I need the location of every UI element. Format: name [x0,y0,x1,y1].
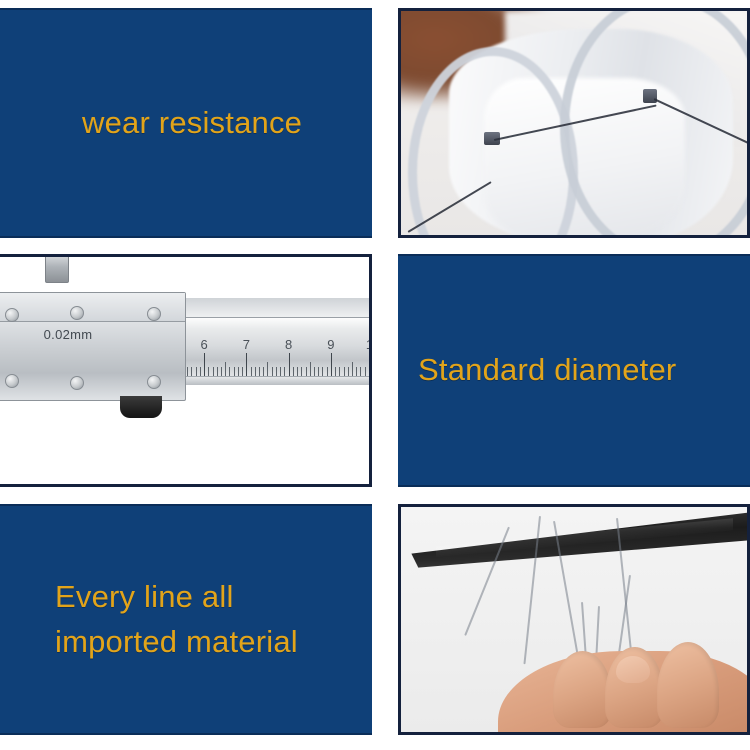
caliper-scale-number: 7 [243,337,250,352]
caliper-tick-minor [352,362,353,377]
product-feature-grid: wear resistance Transparent fishing line… [0,0,750,750]
caliper-tick-major [246,353,247,377]
caliper-tick-minor [234,367,235,377]
caliper-tick-minor [348,367,349,377]
caliper-screw-4 [5,374,19,388]
caliper-tick-minor [242,367,243,377]
caliper-tick-minor [187,367,188,377]
caliper-tick-minor [191,367,192,377]
caliper-tick-minor [208,367,209,377]
caliper-scale-number: 8 [285,337,292,352]
feature-imported-material: Every line all imported material [0,504,372,735]
caliper-thumb-roller [120,396,162,418]
caliper-precision-label: 0.02mm [44,327,93,342]
photo-hand-canvas: Hand holding clear fishing lines beneath… [401,507,747,732]
caliper-tick-minor [213,367,214,377]
caliper-tick-minor [301,367,302,377]
caliper-tick-minor [335,367,336,377]
caliper-tick-minor [259,367,260,377]
caliper-tick-minor [225,362,226,377]
caliper-tick-minor [310,362,311,377]
caliper-tick-major [289,353,290,377]
caliper-screw-6 [147,375,161,389]
finger-ring [657,642,719,728]
caliper-tick-minor [314,367,315,377]
caliper-scale-number: 10 [366,337,369,352]
caliper-tick-minor [251,367,252,377]
caliper-tick-minor [263,367,264,377]
caliper-tick-minor [238,367,239,377]
caliper-depth-rod [184,376,369,384]
feature-wear-resistance-text: wear resistance [82,101,302,145]
photo-vernier-caliper: 12345678910 0.02mm Stai [0,254,372,487]
photo-vernier-caliper-canvas: 12345678910 0.02mm Stai [0,257,369,484]
caliper-slider-block: 0.02mm [0,292,186,401]
caliper-tick-minor [280,367,281,377]
caliper-tick-minor [200,367,201,377]
photo-hand-holding-line: Hand holding clear fishing lines beneath… [398,504,750,735]
caliper-tick-major [331,353,332,377]
caliper-tick-minor [196,367,197,377]
caliper-tick-minor [322,367,323,377]
caliper-tick-minor [344,367,345,377]
caliper-screw-5 [70,376,84,390]
caliper-tick-minor [217,367,218,377]
caliper-scale-number: 6 [201,337,208,352]
spool-line-clip-right [643,89,657,103]
caliper-tick-minor [360,367,361,377]
feature-standard-diameter-text: Standard diameter [418,348,676,392]
caliper-tick-minor [267,362,268,377]
caliper-tick-minor [339,367,340,377]
caliper-tick-minor [297,367,298,377]
caliper-assembly: 12345678910 0.02mm [0,275,369,416]
photo-line-spool: Transparent fishing line spool with mono… [398,8,750,238]
caliper-tick-major [204,353,205,377]
caliper-scale-number: 9 [327,337,334,352]
caliper-tick-minor [306,367,307,377]
photo-line-spool-canvas: Transparent fishing line spool with mono… [401,11,747,235]
feature-wear-resistance: wear resistance [0,8,372,238]
caliper-tick-minor [318,367,319,377]
caliper-tick-minor [272,367,273,377]
caliper-tick-minor [356,367,357,377]
caliper-tick-minor [284,367,285,377]
caliper-tick-minor [365,367,366,377]
caliper-thumb-screw [45,257,69,283]
caliper-tick-minor [293,367,294,377]
caliper-screw-3 [147,307,161,321]
caliper-tick-minor [255,367,256,377]
caliper-tick-minor [327,367,328,377]
feature-imported-material-text: Every line all imported material [55,575,298,663]
caliper-tick-minor [276,367,277,377]
caliper-tick-minor [229,367,230,377]
caliper-tick-minor [221,367,222,377]
spool-rim-right [560,11,747,235]
feature-standard-diameter: Standard diameter [398,254,750,487]
